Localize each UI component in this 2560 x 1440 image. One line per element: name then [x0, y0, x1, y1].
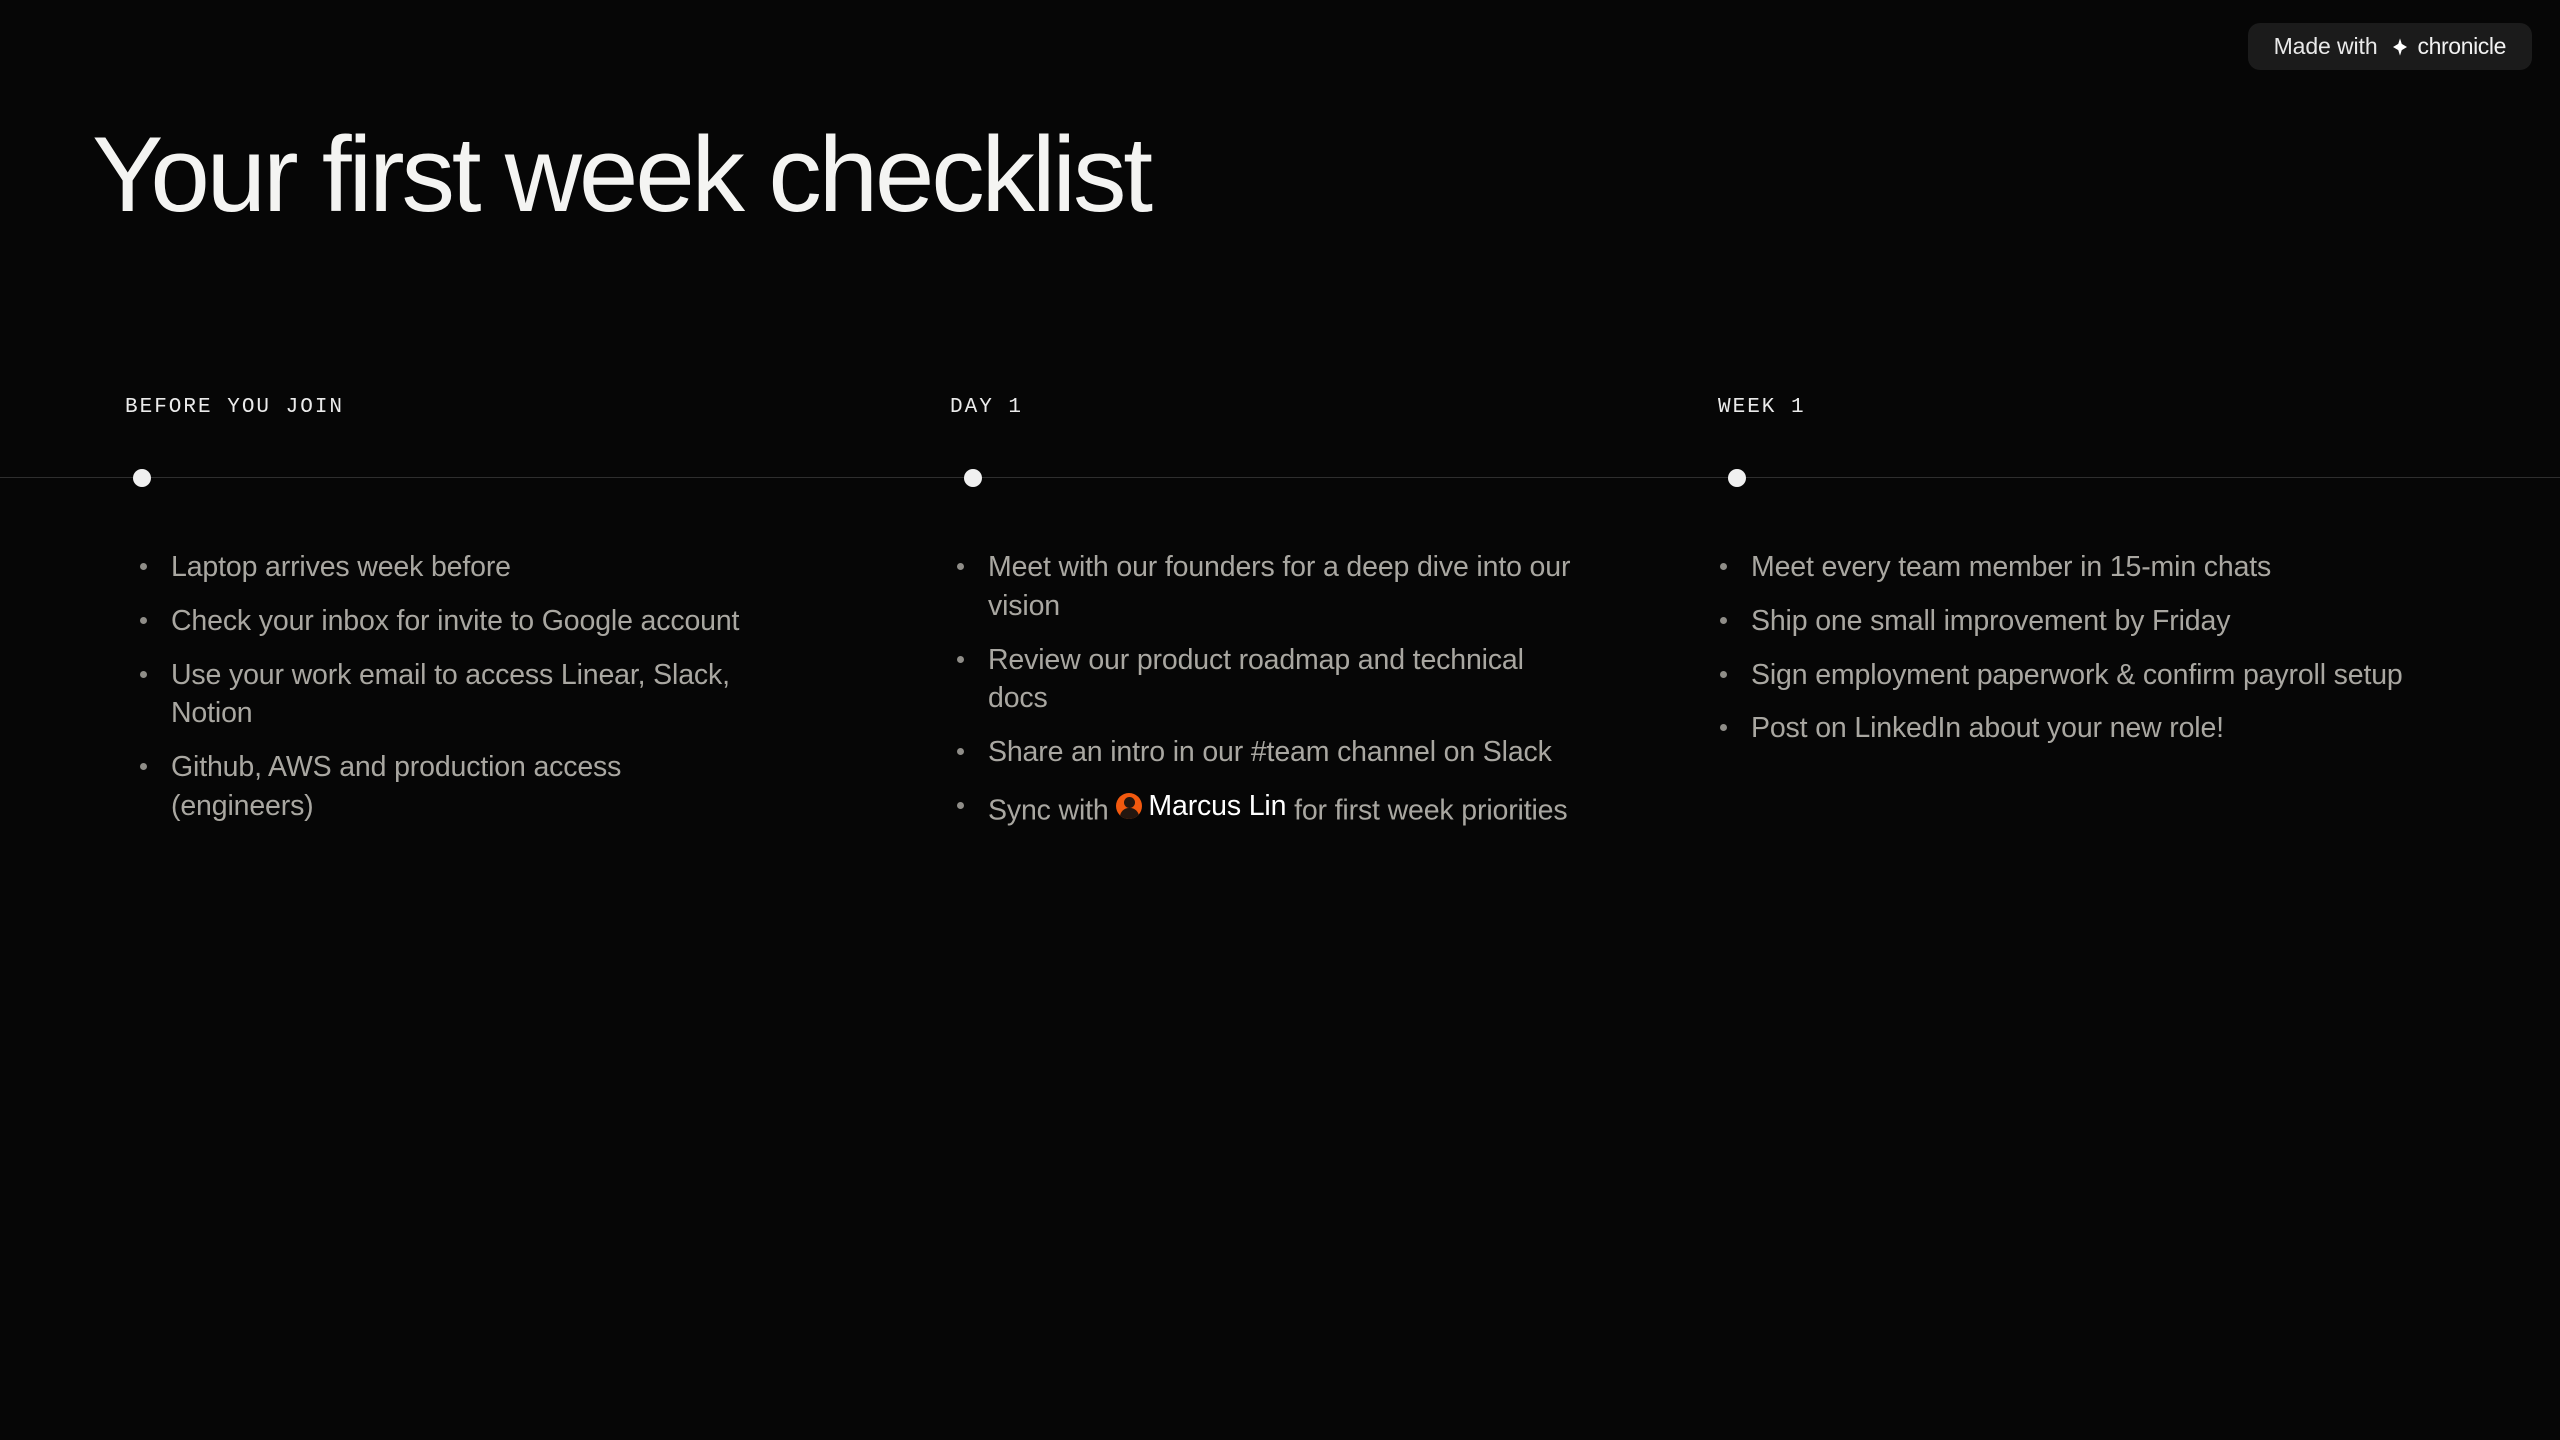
mention-name-label: Marcus Lin	[1148, 787, 1286, 826]
chronicle-brand-label: chronicle	[2418, 33, 2506, 60]
bullet-point-icon	[957, 748, 964, 755]
avatar	[1116, 793, 1142, 819]
bullet-point-icon	[1720, 671, 1727, 678]
checklist-item[interactable]: Sign employment paperwork & confirm payr…	[1708, 656, 2408, 695]
bullet-point-icon	[957, 802, 964, 809]
checklist-item[interactable]: Review our product roadmap and technical…	[945, 641, 1575, 719]
checklist-item[interactable]: Post on LinkedIn about your new role!	[1708, 709, 2408, 748]
badge-prefix-label: Made with	[2274, 33, 2378, 60]
checklist-item[interactable]: Use your work email to access Linear, Sl…	[128, 656, 748, 734]
checklist-item-text: Use your work email to access Linear, Sl…	[171, 659, 730, 730]
checklist-item-text: Laptop arrives week before	[171, 551, 511, 583]
bullet-point-icon	[1720, 724, 1727, 731]
checklist-item[interactable]: Meet every team member in 15-min chats	[1708, 548, 2408, 587]
bullet-point-icon	[957, 563, 964, 570]
sparkle-icon	[2389, 36, 2411, 58]
checklist-item-text: Review our product roadmap and technical…	[988, 644, 1524, 715]
made-with-chronicle-badge[interactable]: Made with chronicle	[2248, 23, 2532, 70]
checklist-item-text: Check your inbox for invite to Google ac…	[171, 605, 739, 637]
checklist-item-text: Ship one small improvement by Friday	[1751, 605, 2230, 637]
bullet-point-icon	[1720, 617, 1727, 624]
checklist-day-1: Meet with our founders for a deep dive i…	[945, 548, 1575, 830]
checklist-item-text: Sign employment paperwork & confirm payr…	[1751, 659, 2403, 691]
checklist-item-text: Meet with our founders for a deep dive i…	[988, 551, 1570, 622]
checklist-item[interactable]: Github, AWS and production access (engin…	[128, 748, 748, 826]
checklist-item-text: for first week priorities	[1294, 794, 1567, 826]
bullet-point-icon	[957, 656, 964, 663]
stage-column-before-you-join: Laptop arrives week beforeCheck your inb…	[128, 548, 748, 826]
bullet-point-icon	[140, 563, 147, 570]
checklist-item[interactable]: Ship one small improvement by Friday	[1708, 602, 2408, 641]
checklist-item[interactable]: Share an intro in our #team channel on S…	[945, 733, 1575, 772]
checklist-before-you-join: Laptop arrives week beforeCheck your inb…	[128, 548, 748, 826]
checklist-item-text: Meet every team member in 15-min chats	[1751, 551, 2271, 583]
checklist-item-text: Github, AWS and production access (engin…	[171, 751, 621, 822]
bullet-point-icon	[140, 617, 147, 624]
user-mention-chip[interactable]: Marcus Lin	[1116, 787, 1286, 826]
checklist-item-text: Share an intro in our #team channel on S…	[988, 736, 1552, 768]
checklist-item[interactable]: Check your inbox for invite to Google ac…	[128, 602, 748, 641]
stage-label-week-1: WEEK 1	[1718, 396, 1806, 419]
stage-column-week-1: Meet every team member in 15-min chatsSh…	[1708, 548, 2408, 748]
checklist-item-text: Sync with	[988, 794, 1109, 826]
timeline: BEFORE YOU JOINLaptop arrives week befor…	[0, 0, 2560, 1440]
checklist-item[interactable]: Sync with Marcus Lin for first week prio…	[945, 787, 1575, 830]
checklist-item-text: Post on LinkedIn about your new role!	[1751, 712, 2224, 744]
stage-label-day-1: DAY 1	[950, 396, 1023, 419]
checklist-week-1: Meet every team member in 15-min chatsSh…	[1708, 548, 2408, 748]
timeline-node-before-you-join[interactable]	[133, 469, 151, 487]
stage-label-before-you-join: BEFORE YOU JOIN	[125, 396, 344, 419]
bullet-point-icon	[140, 763, 147, 770]
stage-column-day-1: Meet with our founders for a deep dive i…	[945, 548, 1575, 830]
timeline-node-day-1[interactable]	[964, 469, 982, 487]
bullet-point-icon	[140, 671, 147, 678]
checklist-item[interactable]: Meet with our founders for a deep dive i…	[945, 548, 1575, 626]
bullet-point-icon	[1720, 563, 1727, 570]
timeline-node-week-1[interactable]	[1728, 469, 1746, 487]
timeline-rule	[0, 477, 2560, 478]
checklist-item[interactable]: Laptop arrives week before	[128, 548, 748, 587]
